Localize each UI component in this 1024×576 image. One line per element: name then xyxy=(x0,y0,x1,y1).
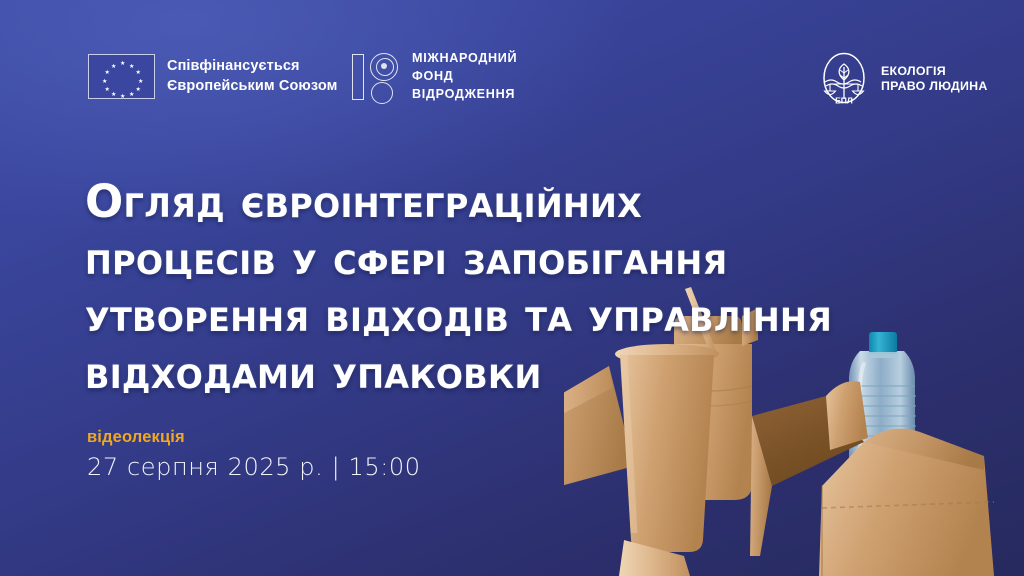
eu-star: ★ xyxy=(111,65,115,69)
epl-emblem-icon: ЕПЛ xyxy=(816,51,872,107)
eu-star: ★ xyxy=(136,88,140,92)
title-line-2: процесів у сфері запобігання xyxy=(85,230,915,287)
event-meta: відеолекція 27 серпня 2025 р. | 15:00 xyxy=(87,428,421,481)
irf-mark-icon xyxy=(352,51,399,103)
eu-star: ★ xyxy=(105,71,109,75)
eu-star: ★ xyxy=(120,62,124,66)
eu-logo-line-2: Європейським Союзом xyxy=(167,77,337,96)
epl-organization-logo: ЕПЛ ЕКОЛОГІЯ ПРАВО ЛЮДИНА xyxy=(816,51,988,107)
irf-logo-line-1: МІЖНАРОДНИЙ xyxy=(412,50,517,68)
irf-circle-shape xyxy=(371,82,393,104)
irf-logo-line-3: ВІДРОДЖЕННЯ xyxy=(412,86,517,104)
irf-logo-text: МІЖНАРОДНИЙ ФОНД ВІДРОДЖЕННЯ xyxy=(412,50,517,104)
irf-bar-shape xyxy=(352,54,364,100)
eu-flag-icon: ★ ★ ★ ★ ★ ★ ★ ★ ★ ★ ★ ★ xyxy=(88,54,155,99)
page-title: Огляд євроінтеграційних процесів у сфері… xyxy=(85,173,915,401)
epl-logo-line-1: ЕКОЛОГІЯ xyxy=(881,64,988,79)
epl-logo-text: ЕКОЛОГІЯ ПРАВО ЛЮДИНА xyxy=(881,64,988,94)
irf-foundation-logo: МІЖНАРОДНИЙ ФОНД ВІДРОДЖЕННЯ xyxy=(352,50,517,104)
eu-star: ★ xyxy=(136,71,140,75)
event-format-label: відеолекція xyxy=(87,428,421,447)
eu-star: ★ xyxy=(105,88,109,92)
poster-canvas: ★ ★ ★ ★ ★ ★ ★ ★ ★ ★ ★ ★ Співфінансується… xyxy=(0,0,1024,576)
epl-logo-line-2: ПРАВО ЛЮДИНА xyxy=(881,79,988,94)
irf-logo-line-2: ФОНД xyxy=(412,68,517,86)
eu-star: ★ xyxy=(111,93,115,97)
logo-bar: ★ ★ ★ ★ ★ ★ ★ ★ ★ ★ ★ ★ Співфінансується… xyxy=(0,50,1024,112)
svg-text:ЕПЛ: ЕПЛ xyxy=(835,96,853,106)
eu-star: ★ xyxy=(120,95,124,99)
eu-logo-line-1: Співфінансується xyxy=(167,57,337,76)
irf-target-shape xyxy=(370,53,398,81)
title-line-1: Огляд євроінтеграційних xyxy=(85,173,915,230)
eu-stars-group: ★ ★ ★ ★ ★ ★ ★ ★ ★ ★ ★ ★ xyxy=(89,55,154,98)
eu-star: ★ xyxy=(129,65,133,69)
title-line-3: утворення відходів та управління xyxy=(85,287,915,344)
title-line-4: відходами упаковки xyxy=(85,344,915,401)
eu-star: ★ xyxy=(129,93,133,97)
event-datetime: 27 серпня 2025 р. | 15:00 xyxy=(87,453,421,481)
eu-star: ★ xyxy=(102,80,106,84)
eu-logo-text: Співфінансується Європейським Союзом xyxy=(167,57,337,95)
eu-star: ★ xyxy=(138,80,142,84)
eu-funding-logo: ★ ★ ★ ★ ★ ★ ★ ★ ★ ★ ★ ★ Співфінансується… xyxy=(88,54,337,99)
